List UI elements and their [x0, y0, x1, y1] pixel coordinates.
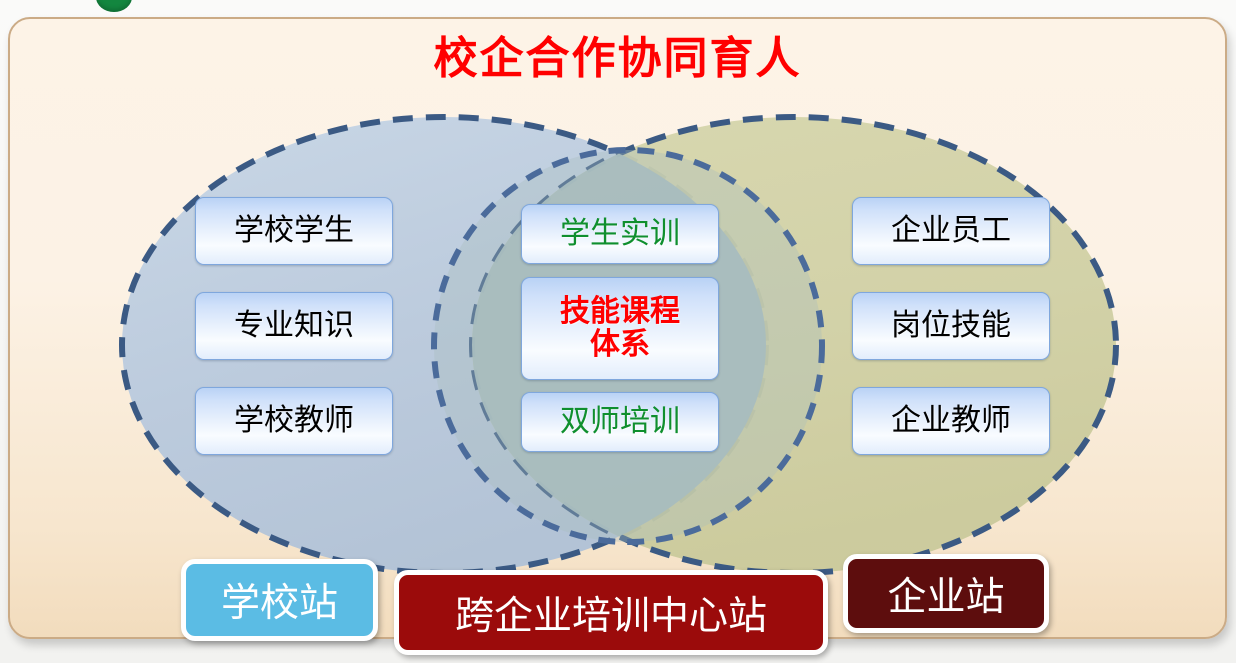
concept-box-right-2[interactable]: 岗位技能 — [852, 292, 1050, 360]
concept-box-label: 专业知识 — [234, 310, 354, 342]
concept-box-middle-1[interactable]: 学生实训 — [521, 204, 719, 264]
station-enterprise[interactable]: 企业站 — [843, 554, 1049, 633]
concept-box-left-2[interactable]: 专业知识 — [195, 292, 393, 360]
page-title: 校企合作协同育人 — [10, 37, 1225, 81]
concept-box-label: 双师培训 — [560, 406, 680, 438]
watermark-text — [1014, 1, 1214, 13]
concept-box-middle-2[interactable]: 技能课程体系 — [521, 277, 719, 380]
concept-box-label: 技能课程体系 — [546, 296, 694, 361]
station-training-center[interactable]: 跨企业培训中心站 — [394, 570, 828, 655]
station-school[interactable]: 学校站 — [181, 559, 378, 641]
concept-box-label: 企业员工 — [891, 215, 1011, 247]
concept-box-middle-3[interactable]: 双师培训 — [521, 392, 719, 452]
concept-box-label: 企业教师 — [891, 405, 1011, 437]
concept-box-label: 学校学生 — [234, 215, 354, 247]
concept-box-left-3[interactable]: 学校教师 — [195, 387, 393, 455]
concept-box-right-3[interactable]: 企业教师 — [852, 387, 1050, 455]
station-label: 学校站 — [221, 572, 338, 628]
concept-box-label: 岗位技能 — [891, 310, 1011, 342]
content-panel: 校企合作协同育人 — [8, 17, 1227, 639]
slide-canvas: 校企合作协同育人 — [0, 0, 1236, 663]
station-label: 跨企业培训中心站 — [455, 585, 767, 641]
concept-box-label: 学生实训 — [560, 218, 680, 250]
concept-box-left-1[interactable]: 学校学生 — [195, 197, 393, 265]
concept-box-right-1[interactable]: 企业员工 — [852, 197, 1050, 265]
station-label: 企业站 — [887, 566, 1004, 622]
concept-box-label: 学校教师 — [234, 405, 354, 437]
